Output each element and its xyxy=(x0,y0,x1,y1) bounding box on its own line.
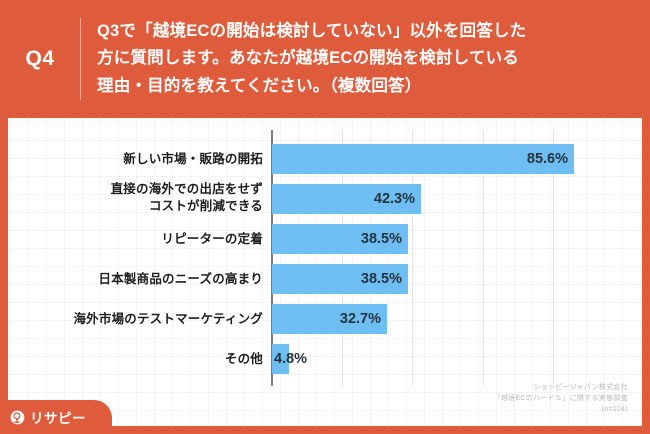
source-note-line: ショッピージャパン株式会社 xyxy=(494,383,628,394)
bar-row: その他 4.8% xyxy=(8,344,642,374)
bar-segment[interactable]: 4.8% xyxy=(272,344,289,374)
bar-value-label: 32.7% xyxy=(340,311,387,327)
bar-value-label: 42.3% xyxy=(374,191,421,207)
bar-value-label: 38.5% xyxy=(361,231,408,247)
question-number-badge: Q4 xyxy=(0,47,80,71)
bar-segment[interactable]: 38.5% xyxy=(272,224,408,254)
bar-container: 85.6% xyxy=(272,144,574,174)
bar-segment[interactable]: 42.3% xyxy=(272,184,421,214)
bar-row: 海外市場のテストマーケティング 32.7% xyxy=(8,304,642,334)
bar-row: 新しい市場・販路の開拓 85.6% xyxy=(8,144,642,174)
category-label: 海外市場のテストマーケティング xyxy=(8,311,263,328)
bar-container: 38.5% xyxy=(272,224,408,254)
bar-container: 38.5% xyxy=(272,264,408,294)
bar-chart: 新しい市場・販路の開拓 85.6% 直接の海外での出店をせず コストが削減できる… xyxy=(8,130,642,386)
bar-container: 32.7% xyxy=(272,304,387,334)
bar-row: 直接の海外での出店をせず コストが削減できる 42.3% xyxy=(8,184,642,214)
bar-value-label: 85.6% xyxy=(527,151,574,167)
source-note: ショッピージャパン株式会社 「越境ECのハードル」に関する実態調査 (n=104… xyxy=(494,383,628,416)
magnifier-pin-icon xyxy=(10,410,25,425)
bar-value-label: 4.8% xyxy=(272,351,307,367)
question-line: 理由・目的を教えてください。（複数回答） xyxy=(97,73,632,100)
bar-container: 42.3% xyxy=(272,184,421,214)
question-text: Q3で「越境ECの開始は検討していない」以外を回答した 方に質問します。あなたが… xyxy=(81,18,650,100)
brand-logo[interactable]: リサピー xyxy=(0,400,112,434)
chart-card: 新しい市場・販路の開拓 85.6% 直接の海外での出店をせず コストが削減できる… xyxy=(8,118,642,426)
bar-container: 4.8% xyxy=(272,344,289,374)
question-line: 方に質問します。あなたが越境ECの開始を検討している xyxy=(97,45,632,72)
category-label: 日本製商品のニーズの高まり xyxy=(8,271,263,288)
bar-segment[interactable]: 38.5% xyxy=(272,264,408,294)
brand-logo-text: リサピー xyxy=(30,407,86,427)
source-note-line: (n=104) xyxy=(494,405,628,416)
bar-segment[interactable]: 32.7% xyxy=(272,304,387,334)
question-header: Q4 Q3で「越境ECの開始は検討していない」以外を回答した 方に質問します。あ… xyxy=(0,0,650,118)
question-line: Q3で「越境ECの開始は検討していない」以外を回答した xyxy=(97,18,632,45)
category-label: 新しい市場・販路の開拓 xyxy=(8,151,263,168)
bar-row: リピーターの定着 38.5% xyxy=(8,224,642,254)
category-label: リピーターの定着 xyxy=(8,231,263,248)
bar-segment[interactable]: 85.6% xyxy=(272,144,574,174)
category-label: 直接の海外での出店をせず コストが削減できる xyxy=(8,181,263,215)
bar-value-label: 38.5% xyxy=(361,271,408,287)
bar-row: 日本製商品のニーズの高まり 38.5% xyxy=(8,264,642,294)
source-note-line: 「越境ECのハードル」に関する実態調査 xyxy=(494,394,628,405)
category-label: その他 xyxy=(8,351,263,368)
